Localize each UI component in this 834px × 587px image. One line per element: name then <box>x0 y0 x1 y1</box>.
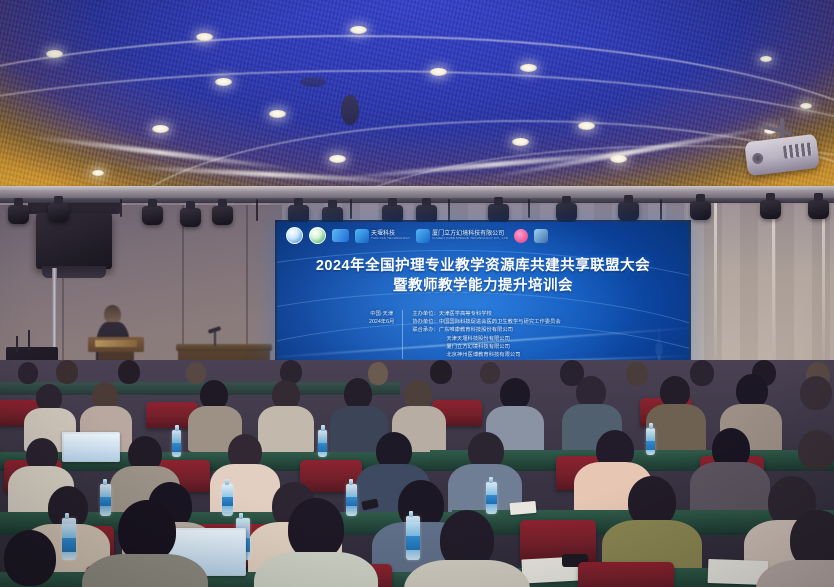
screen-coorganizer-line: 协办单位：中国国际科技促进会医药卫生教学与研究工作委员会 <box>412 318 560 326</box>
ceiling-fixture <box>341 95 359 125</box>
light-cable <box>448 199 450 223</box>
water-bottle <box>222 484 233 516</box>
audience-head <box>288 498 344 560</box>
stage-light <box>8 205 29 224</box>
logo-lifang-huanjing: 厦门立方幻境科技有限公司 XIAMEN CUBE MIRAGE TECHNOLO… <box>416 229 508 243</box>
mic-antenna <box>28 330 30 350</box>
downlight <box>610 155 627 163</box>
screen-info-left: 中国·天津 2024年6月 <box>369 310 403 359</box>
seat <box>578 562 674 587</box>
audience-area <box>0 360 834 587</box>
downlight <box>215 78 232 86</box>
table-mic <box>214 332 216 346</box>
laptop <box>62 432 120 462</box>
stage-light <box>760 200 781 219</box>
downlight <box>350 26 367 34</box>
audience-head <box>480 362 500 384</box>
water-bottle <box>100 484 111 516</box>
audience-head <box>368 362 388 385</box>
mic-antenna <box>16 336 18 352</box>
screen-title-line2: 暨教师教学能力提升培训会 <box>277 276 689 296</box>
stage-light <box>556 203 577 222</box>
screen-partner-line: 天津天堰科技股份有限公司 <box>412 335 560 343</box>
logo-tianyan: 天堰科技 TIAN YAN TECHNOLOGY <box>355 229 410 243</box>
screen-date: 2024年6月 <box>369 318 394 326</box>
audience-head <box>800 376 832 410</box>
projector-lens <box>752 152 764 164</box>
water-bottle <box>62 518 76 560</box>
screen-info-block: 中国·天津 2024年6月 主办单位：天津医学高等专科学校 协办单位：中国国际科… <box>369 310 561 359</box>
ceiling <box>0 0 834 215</box>
logo-swoosh-emblem-icon <box>332 229 349 242</box>
downlight <box>520 64 537 72</box>
logo-lifang-icon <box>416 229 430 243</box>
audience-head <box>798 430 834 470</box>
screen-undertaker-line: 联合承办：广东唯康教育科技股份有限公司 <box>412 326 560 334</box>
light-cable <box>660 199 662 220</box>
head-table-top <box>176 344 272 351</box>
downlight <box>196 33 213 41</box>
light-cable <box>528 199 530 218</box>
podium-emblem <box>95 340 137 347</box>
audience-body <box>254 552 378 587</box>
downlight <box>800 103 812 109</box>
stage-light <box>212 206 233 225</box>
light-cable <box>120 199 122 217</box>
sponsor-logo-row: 天堰科技 TIAN YAN TECHNOLOGY 厦门立方幻境科技有限公司 XI… <box>286 227 680 244</box>
conference-photo: 天堰科技 TIAN YAN TECHNOLOGY 厦门立方幻境科技有限公司 XI… <box>0 0 834 587</box>
light-cable <box>350 199 352 219</box>
audience-head <box>4 530 56 586</box>
screen-location: 中国·天津 <box>369 310 394 318</box>
stage-light <box>618 202 639 221</box>
downlight <box>329 155 346 163</box>
notepad <box>510 501 537 515</box>
screen-info-right: 主办单位：天津医学高等专科学校 协办单位：中国国际科技促进会医药卫生教学与研究工… <box>412 310 560 359</box>
screen-title-line1: 2024年全国护理专业教学资源库共建共享联盟大会 <box>316 258 650 274</box>
audience-head <box>118 360 140 384</box>
ceiling-fixture <box>300 77 326 87</box>
stage-light <box>808 200 829 219</box>
logo-lifang-sub: XIAMEN CUBE MIRAGE TECHNOLOGY CO., LTD <box>432 237 508 240</box>
stage-light <box>142 206 163 225</box>
light-cable <box>256 199 258 221</box>
audience-body <box>258 406 314 454</box>
downlight <box>92 170 104 176</box>
audience-body <box>646 404 706 456</box>
audience-head <box>56 360 78 384</box>
downlight <box>760 56 772 62</box>
downlight <box>512 138 529 146</box>
logo-wave-emblem-icon <box>534 229 548 243</box>
projector-vents <box>783 142 812 158</box>
water-bottle <box>172 430 181 457</box>
audience-head <box>18 362 38 384</box>
stage-light <box>180 208 201 227</box>
logo-tianyan-sub: TIAN YAN TECHNOLOGY <box>371 237 410 240</box>
audience-head <box>736 374 768 408</box>
screen-partner-line: 厦门立方幻境科技有限公司 <box>412 343 560 351</box>
water-bottle <box>646 428 655 455</box>
audience-head <box>690 360 714 386</box>
downlight <box>269 110 286 118</box>
logo-school-emblem-icon <box>286 227 303 244</box>
stage-light <box>488 204 509 223</box>
screen-title: 2024年全国护理专业教学资源库共建共享联盟大会 暨教师教学能力提升培训会 <box>277 256 689 296</box>
screen-host-line: 主办单位：天津医学高等专科学校 <box>412 310 560 318</box>
audience-body <box>404 560 530 587</box>
screen-partner-line: 北京神州医博教育科技有限公司 <box>412 351 560 359</box>
water-bottle <box>406 516 420 560</box>
water-bottle <box>486 482 497 514</box>
audience-head <box>430 360 452 384</box>
downlight <box>578 122 595 130</box>
water-bottle <box>318 430 327 457</box>
audience-head <box>626 362 648 386</box>
audience-body <box>82 554 208 587</box>
downlight <box>430 68 447 76</box>
logo-pink-emblem-icon <box>514 229 528 243</box>
water-bottle <box>346 484 357 516</box>
audience-head <box>118 500 176 562</box>
hanging-speaker <box>36 213 112 269</box>
downlight <box>46 50 63 58</box>
audience-head <box>186 362 206 384</box>
downlight <box>152 125 169 133</box>
stage-light <box>690 201 711 220</box>
logo-green-emblem-icon <box>309 227 326 244</box>
stage-light <box>48 203 69 222</box>
logo-tianyan-icon <box>355 229 369 243</box>
